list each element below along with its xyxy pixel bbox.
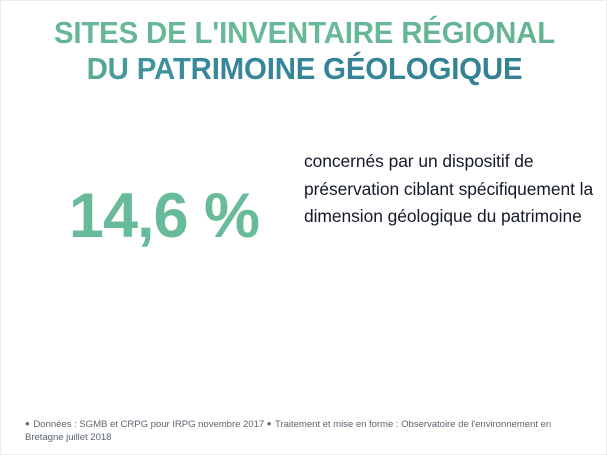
page-title-line-1: SITES DE L'INVENTAIRE RÉGIONAL bbox=[12, 15, 598, 51]
infographic-panel: SITES DE L'INVENTAIRE RÉGIONAL DU PATRIM… bbox=[0, 0, 607, 455]
footer-source: Données : SGMB et CRPG pour IRPG novembr… bbox=[33, 419, 264, 430]
bullet-icon: ● bbox=[25, 419, 31, 428]
bullet-icon: ● bbox=[267, 419, 273, 428]
key-figure-value: 14,6 % bbox=[39, 183, 289, 249]
key-figure-row: 14,6 % concernés par un dispositif de pr… bbox=[1, 141, 607, 316]
key-figure-description: concernés par un dispositif de préservat… bbox=[304, 148, 594, 231]
page-title: SITES DE L'INVENTAIRE RÉGIONAL DU PATRIM… bbox=[1, 15, 607, 87]
footer-credits: ● Données : SGMB et CRPG pour IRPG novem… bbox=[25, 418, 585, 444]
page-title-line-2: DU PATRIMOINE GÉOLOGIQUE bbox=[12, 51, 598, 87]
